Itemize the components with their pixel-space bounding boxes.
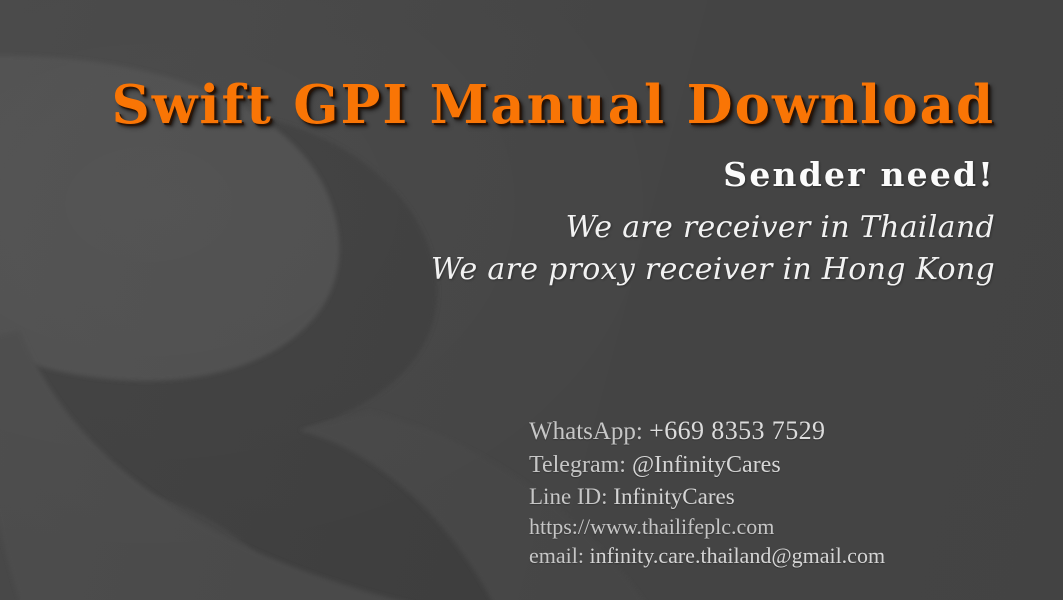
contact-block: WhatsApp: +669 8353 7529 Telegram: @Infi…: [529, 414, 885, 570]
contact-telegram: Telegram: @InfinityCares: [529, 449, 885, 481]
telegram-label: Telegram:: [529, 452, 626, 478]
contact-line-id: Line ID: InfinityCares: [529, 481, 885, 512]
statement-line-1: We are receiver in Thailand: [0, 210, 1063, 245]
line-id-label: Line ID:: [529, 484, 608, 509]
whatsapp-label: WhatsApp:: [529, 418, 643, 445]
subtitle: Sender need!: [0, 155, 1063, 194]
poster-canvas: Swift GPI Manual Download Sender need! W…: [0, 0, 1063, 600]
email-label: email:: [529, 543, 584, 568]
whatsapp-value[interactable]: +669 8353 7529: [649, 416, 825, 445]
contact-website[interactable]: https://www.thailifeplc.com: [529, 512, 885, 541]
line-id-value[interactable]: InfinityCares: [613, 484, 734, 509]
contact-whatsapp: WhatsApp: +669 8353 7529: [529, 414, 885, 448]
page-title: Swift GPI Manual Download: [0, 78, 1063, 134]
contact-email: email: infinity.care.thailand@gmail.com: [529, 541, 885, 570]
watermark-leg: [0, 330, 540, 600]
telegram-value[interactable]: @InfinityCares: [632, 452, 781, 478]
email-value[interactable]: infinity.care.thailand@gmail.com: [589, 543, 885, 568]
statement-line-2: We are proxy receiver in Hong Kong: [0, 252, 1063, 287]
